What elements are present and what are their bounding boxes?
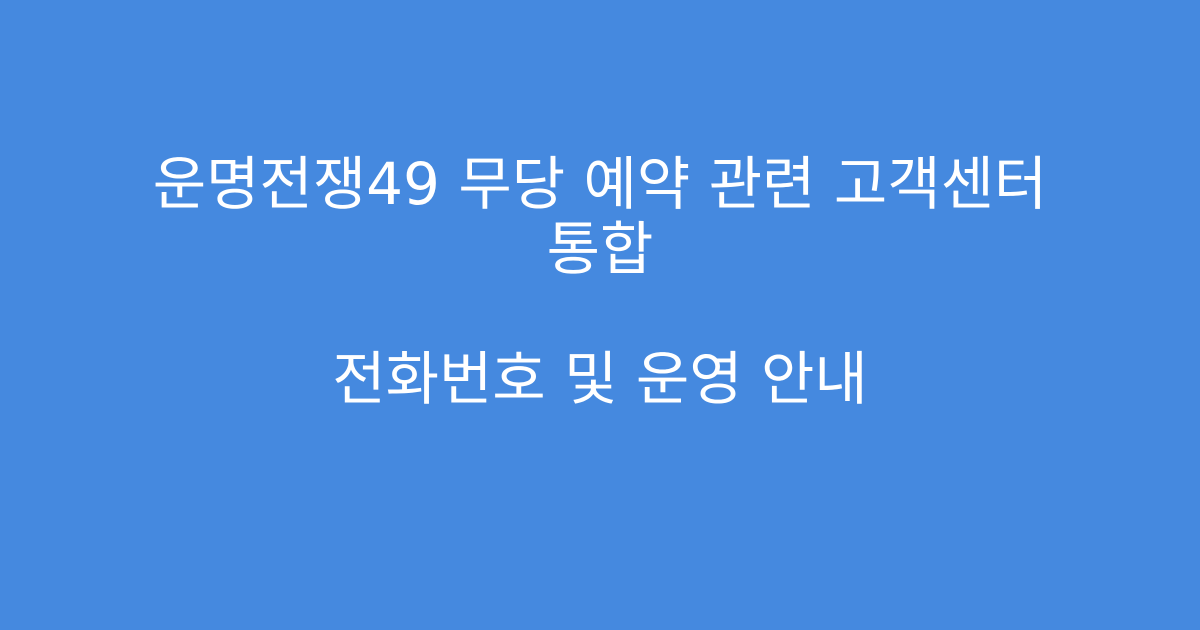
- page-title-line-2: 전화번호 및 운영 안내: [100, 347, 1100, 412]
- page-title: 운명전쟁49 무당 예약 관련 고객센터 통합 전화번호 및 운영 안내: [100, 87, 1100, 477]
- share-card-canvas: 운명전쟁49 무당 예약 관련 고객센터 통합 전화번호 및 운영 안내: [0, 0, 1200, 630]
- page-title-line-1: 운명전쟁49 무당 예약 관련 고객센터 통합: [100, 152, 1100, 282]
